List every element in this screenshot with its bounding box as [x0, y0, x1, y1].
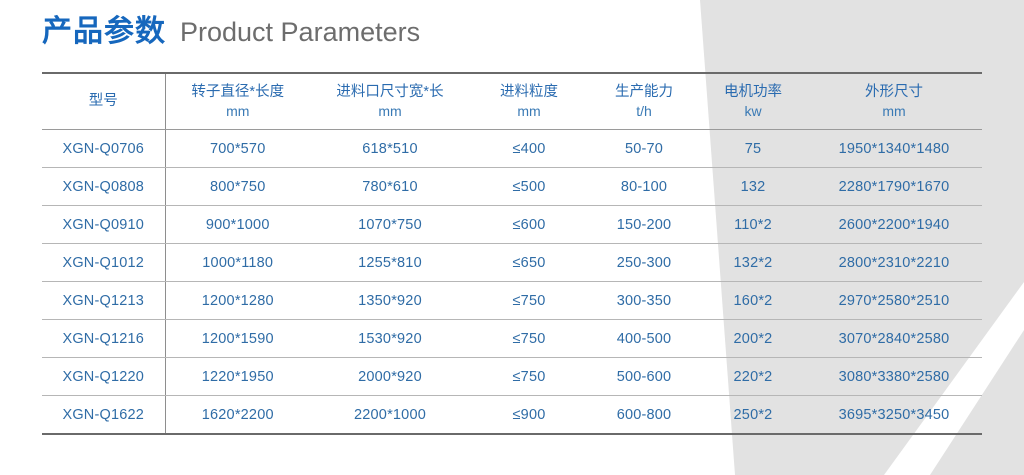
cell-dimensions: 2600*2200*1940: [806, 206, 982, 244]
cell-model: XGN-Q1213: [42, 282, 165, 320]
column-header-rotor: 转子直径*长度 mm: [165, 73, 310, 130]
cell-feed-size: ≤500: [470, 168, 588, 206]
cell-model: XGN-Q1216: [42, 320, 165, 358]
column-header-feed-size-unit: mm: [470, 102, 588, 120]
cell-feed-size: ≤750: [470, 282, 588, 320]
cell-dimensions: 3080*3380*2580: [806, 358, 982, 396]
column-header-motor-power-unit: kw: [700, 102, 806, 120]
cell-motor-power: 75: [700, 130, 806, 168]
cell-feed-opening: 780*610: [310, 168, 470, 206]
cell-motor-power: 132: [700, 168, 806, 206]
column-header-motor-power: 电机功率 kw: [700, 73, 806, 130]
table-row: XGN-Q0706700*570618*510≤40050-70751950*1…: [42, 130, 982, 168]
cell-motor-power: 132*2: [700, 244, 806, 282]
cell-dimensions: 1950*1340*1480: [806, 130, 982, 168]
table-row: XGN-Q0910900*10001070*750≤600150-200110*…: [42, 206, 982, 244]
page-heading: 产品参数 Product Parameters: [42, 17, 420, 47]
cell-rotor: 1220*1950: [165, 358, 310, 396]
cell-rotor: 700*570: [165, 130, 310, 168]
cell-feed-size: ≤400: [470, 130, 588, 168]
cell-feed-size: ≤750: [470, 320, 588, 358]
cell-model: XGN-Q1012: [42, 244, 165, 282]
cell-dimensions: 2800*2310*2210: [806, 244, 982, 282]
page-title-chinese: 产品参数: [42, 17, 166, 47]
cell-motor-power: 160*2: [700, 282, 806, 320]
cell-feed-opening: 1070*750: [310, 206, 470, 244]
cell-dimensions: 2280*1790*1670: [806, 168, 982, 206]
cell-rotor: 1200*1280: [165, 282, 310, 320]
column-header-motor-power-label: 电机功率: [724, 84, 782, 100]
table-row: XGN-Q16221620*22002200*1000≤900600-80025…: [42, 396, 982, 435]
cell-capacity: 50-70: [588, 130, 700, 168]
spec-table-container: 型号 转子直径*长度 mm 进料口尺寸宽*长 mm 进料粒度 mm: [42, 72, 982, 435]
cell-motor-power: 110*2: [700, 206, 806, 244]
cell-model: XGN-Q0706: [42, 130, 165, 168]
column-header-rotor-label: 转子直径*长度: [191, 84, 284, 100]
cell-dimensions: 3070*2840*2580: [806, 320, 982, 358]
cell-model: XGN-Q0808: [42, 168, 165, 206]
product-parameters-page: 产品参数 Product Parameters 型号 转子直径: [0, 0, 1024, 475]
cell-feed-opening: 1255*810: [310, 244, 470, 282]
column-header-dimensions-unit: mm: [806, 102, 982, 120]
cell-capacity: 250-300: [588, 244, 700, 282]
cell-rotor: 1200*1590: [165, 320, 310, 358]
cell-model: XGN-Q1220: [42, 358, 165, 396]
column-header-feed-opening-label: 进料口尺寸宽*长: [336, 84, 443, 100]
table-header: 型号 转子直径*长度 mm 进料口尺寸宽*长 mm 进料粒度 mm: [42, 73, 982, 130]
column-header-model-label: 型号: [89, 93, 118, 109]
product-parameters-table: 型号 转子直径*长度 mm 进料口尺寸宽*长 mm 进料粒度 mm: [42, 72, 982, 435]
column-header-feed-size-label: 进料粒度: [500, 84, 558, 100]
table-body: XGN-Q0706700*570618*510≤40050-70751950*1…: [42, 130, 982, 435]
column-header-model: 型号: [42, 73, 165, 130]
cell-rotor: 800*750: [165, 168, 310, 206]
column-header-feed-opening-unit: mm: [310, 102, 470, 120]
cell-dimensions: 2970*2580*2510: [806, 282, 982, 320]
cell-capacity: 600-800: [588, 396, 700, 435]
cell-feed-size: ≤900: [470, 396, 588, 435]
cell-rotor: 1000*1180: [165, 244, 310, 282]
column-header-capacity-label: 生产能力: [615, 84, 673, 100]
table-row: XGN-Q12161200*15901530*920≤750400-500200…: [42, 320, 982, 358]
column-header-rotor-unit: mm: [166, 102, 311, 120]
column-header-feed-size: 进料粒度 mm: [470, 73, 588, 130]
cell-feed-opening: 2200*1000: [310, 396, 470, 435]
column-header-capacity: 生产能力 t/h: [588, 73, 700, 130]
cell-feed-size: ≤750: [470, 358, 588, 396]
cell-feed-opening: 2000*920: [310, 358, 470, 396]
cell-motor-power: 200*2: [700, 320, 806, 358]
cell-capacity: 80-100: [588, 168, 700, 206]
cell-motor-power: 220*2: [700, 358, 806, 396]
column-header-feed-opening: 进料口尺寸宽*长 mm: [310, 73, 470, 130]
cell-motor-power: 250*2: [700, 396, 806, 435]
column-header-dimensions: 外形尺寸 mm: [806, 73, 982, 130]
cell-capacity: 300-350: [588, 282, 700, 320]
column-header-dimensions-label: 外形尺寸: [865, 84, 923, 100]
cell-model: XGN-Q1622: [42, 396, 165, 435]
table-row: XGN-Q10121000*11801255*810≤650250-300132…: [42, 244, 982, 282]
cell-model: XGN-Q0910: [42, 206, 165, 244]
cell-capacity: 500-600: [588, 358, 700, 396]
cell-capacity: 400-500: [588, 320, 700, 358]
cell-dimensions: 3695*3250*3450: [806, 396, 982, 435]
page-title-english: Product Parameters: [180, 19, 420, 46]
table-header-row: 型号 转子直径*长度 mm 进料口尺寸宽*长 mm 进料粒度 mm: [42, 73, 982, 130]
cell-feed-size: ≤650: [470, 244, 588, 282]
cell-capacity: 150-200: [588, 206, 700, 244]
cell-feed-opening: 618*510: [310, 130, 470, 168]
cell-rotor: 1620*2200: [165, 396, 310, 435]
cell-feed-opening: 1350*920: [310, 282, 470, 320]
column-header-capacity-unit: t/h: [588, 102, 700, 120]
table-row: XGN-Q0808800*750780*610≤50080-1001322280…: [42, 168, 982, 206]
cell-feed-size: ≤600: [470, 206, 588, 244]
table-row: XGN-Q12201220*19502000*920≤750500-600220…: [42, 358, 982, 396]
table-row: XGN-Q12131200*12801350*920≤750300-350160…: [42, 282, 982, 320]
cell-feed-opening: 1530*920: [310, 320, 470, 358]
cell-rotor: 900*1000: [165, 206, 310, 244]
